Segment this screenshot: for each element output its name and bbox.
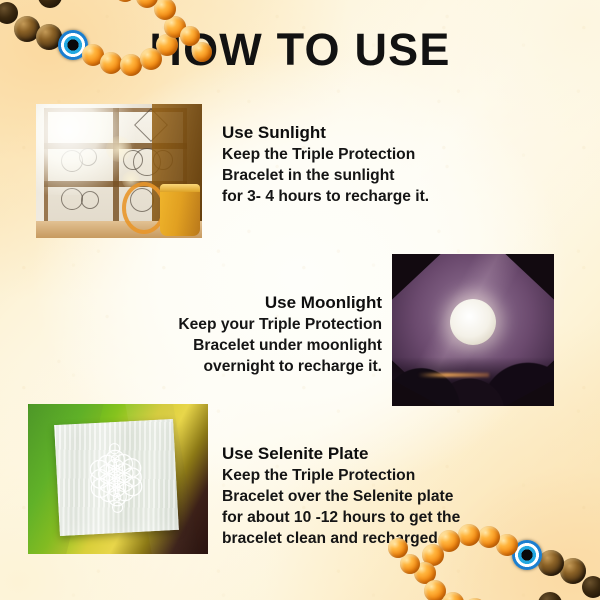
step-moonlight-text: Use Moonlight Keep your Triple Protectio… — [92, 292, 382, 378]
step-selenite-body: Keep the Triple Protection Bracelet over… — [222, 466, 552, 549]
bead-amber-19 — [424, 580, 446, 600]
sun-bokeh-1 — [106, 136, 132, 162]
how-to-use-poster: HOW TO USE — [0, 0, 600, 600]
bead-dark-1 — [0, 2, 18, 24]
bead-tiger-eye-4 — [538, 550, 564, 576]
step-selenite-line-3: for about 10 -12 hours to get the — [222, 508, 552, 529]
step-moonlight-line-1: Keep your Triple Protection — [92, 315, 382, 336]
step-selenite-heading: Use Selenite Plate — [222, 443, 552, 465]
step-moonlight-line-3: overnight to recharge it. — [92, 357, 382, 378]
window-scene — [36, 104, 202, 238]
bead-amber-8 — [136, 0, 158, 8]
step-sunlight-heading: Use Sunlight — [222, 122, 522, 144]
bead-dark-4 — [538, 592, 562, 600]
step-sunlight-body: Keep the Triple Protection Bracelet in t… — [222, 145, 522, 207]
bead-dark-2 — [38, 0, 62, 8]
bead-tiger-eye-3 — [560, 558, 586, 584]
step-moonlight-heading: Use Moonlight — [92, 292, 382, 314]
sunlit-window-photo — [36, 104, 202, 238]
mug-rim — [160, 184, 200, 192]
bead-amber-23 — [400, 554, 420, 574]
yellow-mug — [160, 184, 200, 236]
selenite-plate — [54, 419, 178, 536]
step-selenite-line-2: Bracelet over the Selenite plate — [222, 487, 552, 508]
bead-amber-18 — [414, 562, 436, 584]
bead-amber-20 — [442, 592, 464, 600]
step-sunlight-line-2: Bracelet in the sunlight — [222, 166, 522, 187]
step-selenite-line-1: Keep the Triple Protection — [222, 466, 552, 487]
bead-amber-9 — [114, 0, 136, 2]
full-moon-photo — [392, 254, 554, 406]
step-sunlight-line-1: Keep the Triple Protection — [222, 145, 522, 166]
step-moonlight-line-2: Bracelet under moonlight — [92, 336, 382, 357]
step-moonlight-body: Keep your Triple Protection Bracelet und… — [92, 315, 382, 377]
bead-dark-3 — [582, 576, 600, 598]
step-sunlight-text: Use Sunlight Keep the Triple Protection … — [222, 122, 522, 208]
step-selenite-line-4: bracelet clean and recharged. — [222, 529, 552, 550]
horizon-glow — [418, 373, 489, 377]
tree-silhouette — [392, 357, 554, 406]
page-title: HOW TO USE — [0, 24, 600, 76]
selenite-plate-photo — [28, 404, 208, 554]
step-sunlight-line-3: for 3- 4 hours to recharge it. — [222, 187, 522, 208]
bead-amber-7 — [154, 0, 176, 20]
flower-of-life-engraving — [72, 433, 160, 521]
step-selenite-text: Use Selenite Plate Keep the Triple Prote… — [222, 443, 552, 549]
